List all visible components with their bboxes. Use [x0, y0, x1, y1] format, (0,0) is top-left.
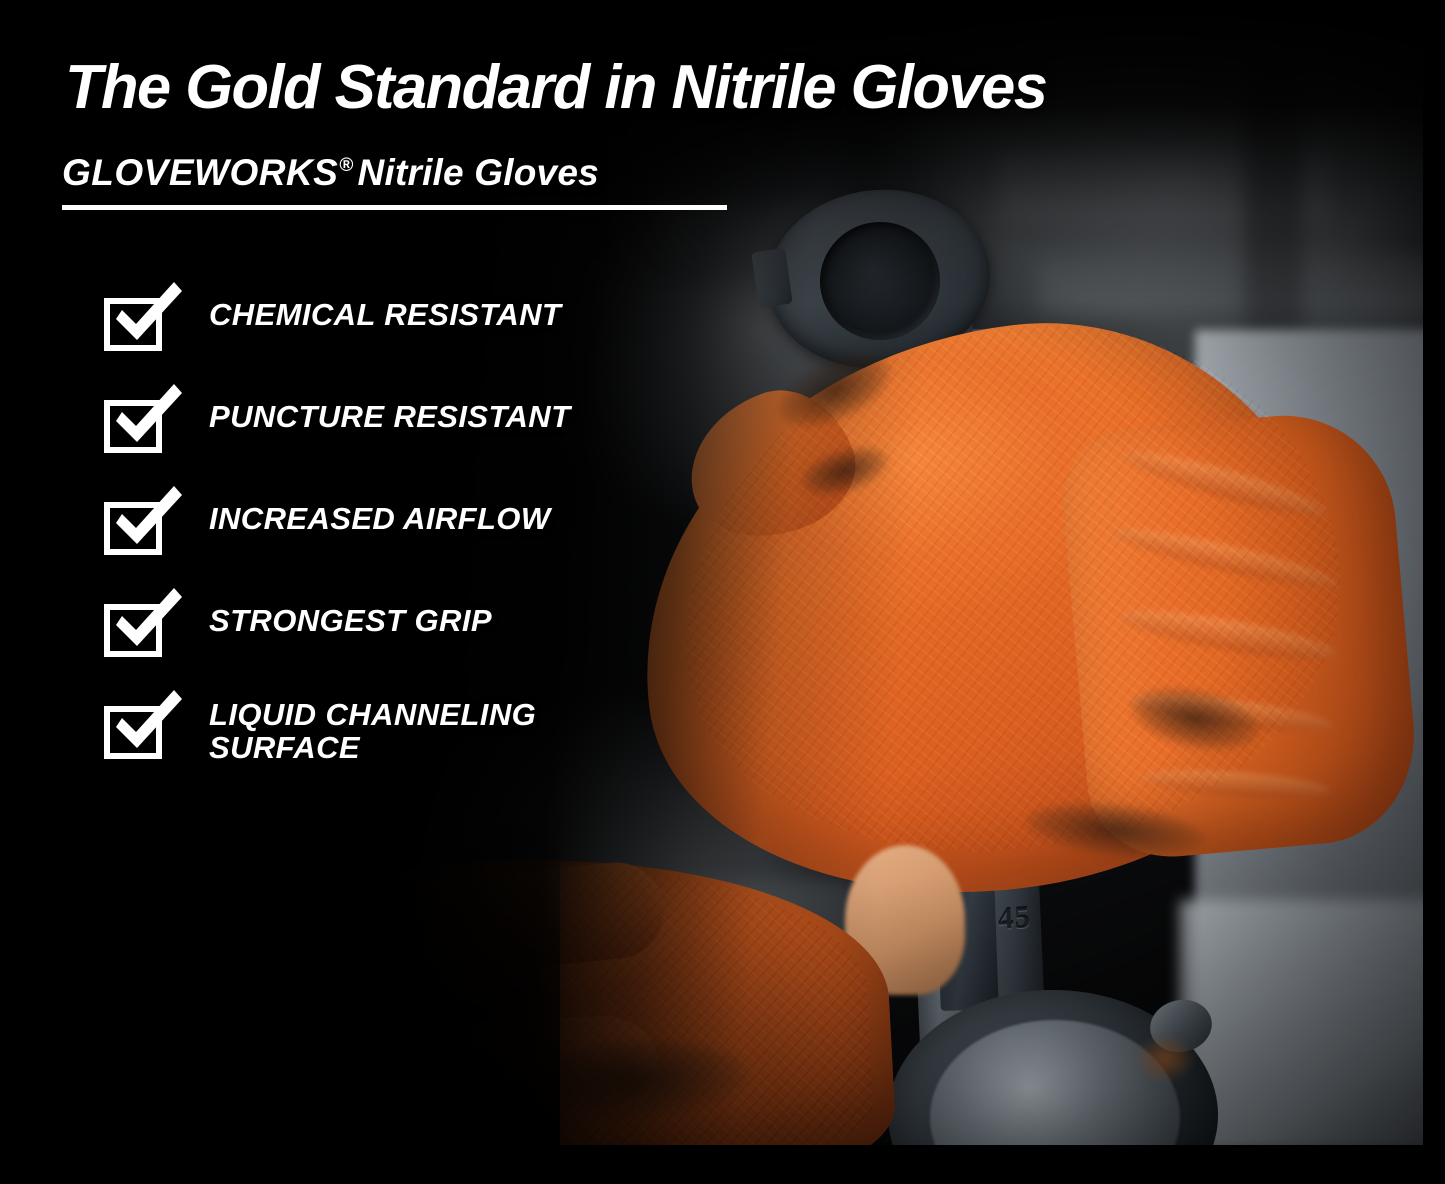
- checkbox-outline: [104, 604, 162, 657]
- registered-trademark-icon: ®: [339, 155, 353, 176]
- checkbox-outline: [104, 298, 162, 351]
- feature-item: CHEMICAL RESISTANT: [104, 292, 724, 394]
- tool-specular-highlight: [72, 890, 114, 910]
- feature-label: INCREASED AIRFLOW: [209, 502, 550, 535]
- bottom-black-bar: [0, 1145, 1445, 1184]
- promo-banner: 45 The Gold Standard: [0, 0, 1445, 1184]
- rod-casting-number: 45: [997, 899, 1032, 937]
- worker-sleeve: [1180, 900, 1445, 1148]
- feature-label: CHEMICAL RESISTANT: [209, 298, 561, 331]
- checkbox-outline: [104, 502, 162, 555]
- feature-label: LIQUID CHANNELING SURFACE: [209, 698, 609, 765]
- checkbox-outline: [104, 706, 162, 759]
- subheadline-underline: [62, 205, 727, 210]
- feature-item: STRONGEST GRIP: [104, 598, 724, 700]
- feature-item: PUNCTURE RESISTANT: [104, 394, 724, 496]
- background-blur-band: [1040, 255, 1440, 313]
- feature-label: PUNCTURE RESISTANT: [209, 400, 570, 433]
- rust-stain: [1135, 1035, 1195, 1083]
- checkbox-outline: [104, 400, 162, 453]
- brand-subheadline: GLOVEWORKS®Nitrile Gloves: [62, 152, 599, 194]
- headline: The Gold Standard in Nitrile Gloves: [65, 52, 1046, 123]
- feature-item: LIQUID CHANNELING SURFACE: [104, 700, 724, 802]
- feature-list: CHEMICAL RESISTANTPUNCTURE RESISTANTINCR…: [104, 292, 724, 802]
- background-blur-band: [1245, 60, 1303, 360]
- feature-item: INCREASED AIRFLOW: [104, 496, 724, 598]
- brand-name: GLOVEWORKS: [62, 152, 338, 193]
- right-black-edge: [1423, 0, 1445, 1184]
- feature-label: STRONGEST GRIP: [209, 604, 492, 637]
- brand-suffix: Nitrile Gloves: [358, 152, 599, 193]
